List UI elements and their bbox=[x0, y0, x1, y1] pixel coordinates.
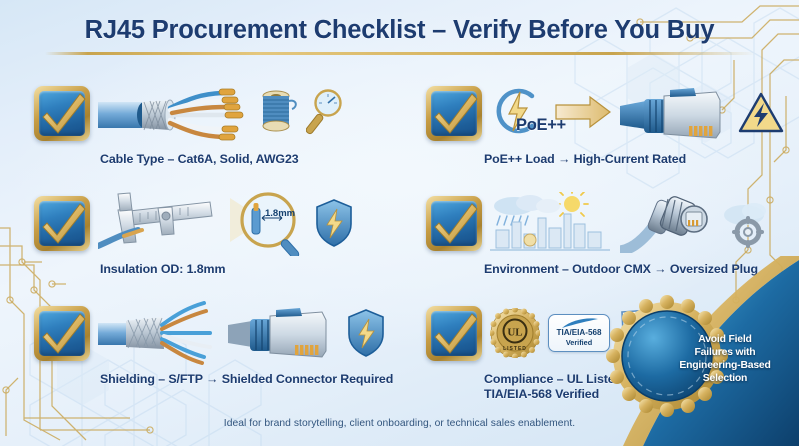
gold-checkbox-icon bbox=[426, 196, 482, 251]
rj45-plug-icon bbox=[620, 82, 730, 144]
checklist-item-cable-type: Cable Type – Cat6A, Solid, AWG23 bbox=[0, 80, 400, 190]
checklist-item-label: Insulation OD: 1.8mm bbox=[100, 262, 400, 277]
gold-checkbox-icon bbox=[426, 306, 482, 361]
svg-text:1.8mm: 1.8mm bbox=[265, 208, 295, 219]
ul-listed-seal-icon: UL LISTED bbox=[490, 308, 540, 358]
checklist-item-label: Cable Type – Cat6A, Solid, AWG23 bbox=[100, 152, 400, 167]
seal-text: Avoid Field Failures with Engineering-Ba… bbox=[669, 333, 781, 385]
wire-spool-icon bbox=[258, 87, 298, 139]
caliper-icon bbox=[98, 190, 220, 256]
poe-badge-text: PoE++ bbox=[516, 116, 566, 135]
weather-industrial-scene-icon bbox=[490, 192, 612, 254]
outdoor-connector-icon bbox=[620, 193, 712, 253]
checklist-item-insulation-od: 1.8mm Insulation OD: 1.8mm bbox=[0, 190, 400, 300]
checklist-item-label: PoE++ Load → High-Current Rated bbox=[484, 152, 799, 167]
svg-text:LISTED: LISTED bbox=[503, 346, 527, 352]
magnifier-icon: 1.8mm bbox=[228, 190, 306, 256]
cable-cutaway-icon bbox=[98, 82, 250, 144]
gold-checkbox-icon bbox=[34, 306, 90, 361]
gold-checkbox-icon bbox=[34, 196, 90, 251]
checklist-item-shielding: Shielding – S/FTP → Shielded Connector R… bbox=[0, 300, 400, 410]
shield-bolt-icon bbox=[314, 198, 354, 248]
page-title: RJ45 Procurement Checklist – Verify Befo… bbox=[0, 16, 799, 45]
checklist-item-label: Shielding – S/FTP → Shielded Connector R… bbox=[100, 372, 400, 387]
magnifier-gauge-icon bbox=[306, 87, 344, 139]
poster-header: RJ45 Procurement Checklist – Verify Befo… bbox=[0, 16, 799, 55]
checklist-item-poe-load: PoE++ PoE++ Load → High-Current Rated bbox=[400, 80, 799, 190]
high-voltage-warning-icon bbox=[738, 91, 784, 135]
svg-text:UL: UL bbox=[507, 327, 522, 339]
braided-shield-cable-icon bbox=[98, 301, 220, 365]
gold-checkbox-icon bbox=[34, 86, 90, 141]
shield-bolt-icon bbox=[346, 308, 386, 358]
cloud-gear-icon bbox=[720, 197, 772, 249]
gold-checkbox-icon bbox=[426, 86, 482, 141]
infographic-poster: RJ45 Procurement Checklist – Verify Befo… bbox=[0, 0, 799, 446]
title-underline-rule bbox=[45, 52, 755, 55]
rj45-shielded-plug-icon bbox=[228, 303, 338, 363]
